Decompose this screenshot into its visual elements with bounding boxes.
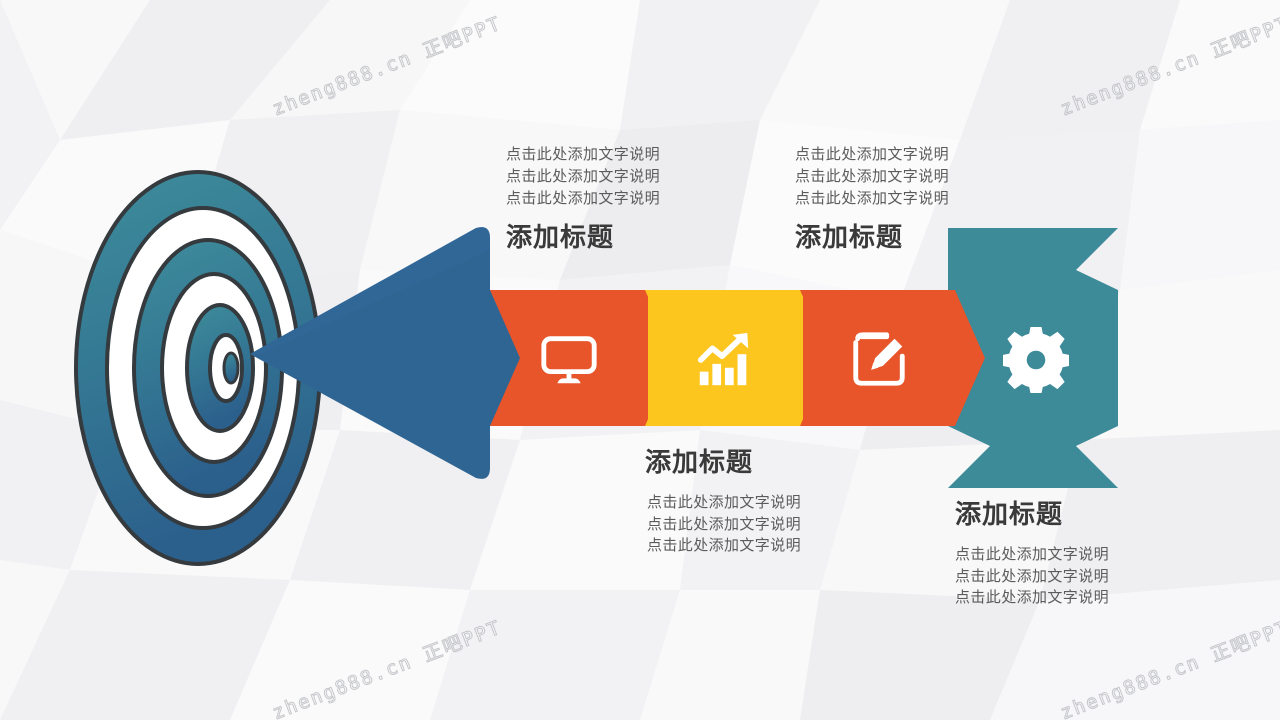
text-block-3-lines: 点击此处添加文字说明 点击此处添加文字说明 点击此处添加文字说明 — [645, 492, 801, 557]
text-block-2: 点击此处添加文字说明 点击此处添加文字说明 点击此处添加文字说明 添加标题 — [795, 144, 949, 253]
text-line: 点击此处添加文字说明 — [955, 587, 1109, 609]
text-line: 点击此处添加文字说明 — [647, 535, 801, 557]
text-block-2-title: 添加标题 — [795, 223, 949, 253]
text-block-3: 添加标题 点击此处添加文字说明 点击此处添加文字说明 点击此处添加文字说明 — [645, 448, 801, 557]
text-block-1-lines: 点击此处添加文字说明 点击此处添加文字说明 点击此处添加文字说明 — [506, 144, 660, 209]
text-line: 点击此处添加文字说明 — [795, 144, 949, 166]
text-block-4-title: 添加标题 — [955, 500, 1109, 530]
text-line: 点击此处添加文字说明 — [647, 514, 801, 536]
text-line: 点击此处添加文字说明 — [506, 144, 660, 166]
text-block-2-lines: 点击此处添加文字说明 点击此处添加文字说明 点击此处添加文字说明 — [795, 144, 949, 209]
target-bullseye-center — [224, 353, 238, 383]
text-block-4: 添加标题 点击此处添加文字说明 点击此处添加文字说明 点击此处添加文字说明 — [955, 500, 1109, 609]
text-line: 点击此处添加文字说明 — [795, 166, 949, 188]
text-block-3-title: 添加标题 — [645, 448, 801, 478]
arrow-shaft — [238, 222, 508, 484]
text-block-1-title: 添加标题 — [506, 223, 660, 253]
text-line: 点击此处添加文字说明 — [795, 188, 949, 210]
text-line: 点击此处添加文字说明 — [955, 566, 1109, 588]
text-block-1: 点击此处添加文字说明 点击此处添加文字说明 点击此处添加文字说明 添加标题 — [506, 144, 660, 253]
slide-canvas: zheng888.cn 正吧PPT zheng888.cn 正吧PPT zhen… — [0, 0, 1280, 720]
text-line: 点击此处添加文字说明 — [506, 188, 660, 210]
text-line: 点击此处添加文字说明 — [506, 166, 660, 188]
text-line: 点击此处添加文字说明 — [647, 492, 801, 514]
ribbon-segment-3[interactable] — [800, 290, 985, 426]
ribbon-segment-2[interactable] — [645, 290, 830, 426]
text-block-4-lines: 点击此处添加文字说明 点击此处添加文字说明 点击此处添加文字说明 — [955, 544, 1109, 609]
text-line: 点击此处添加文字说明 — [955, 544, 1109, 566]
